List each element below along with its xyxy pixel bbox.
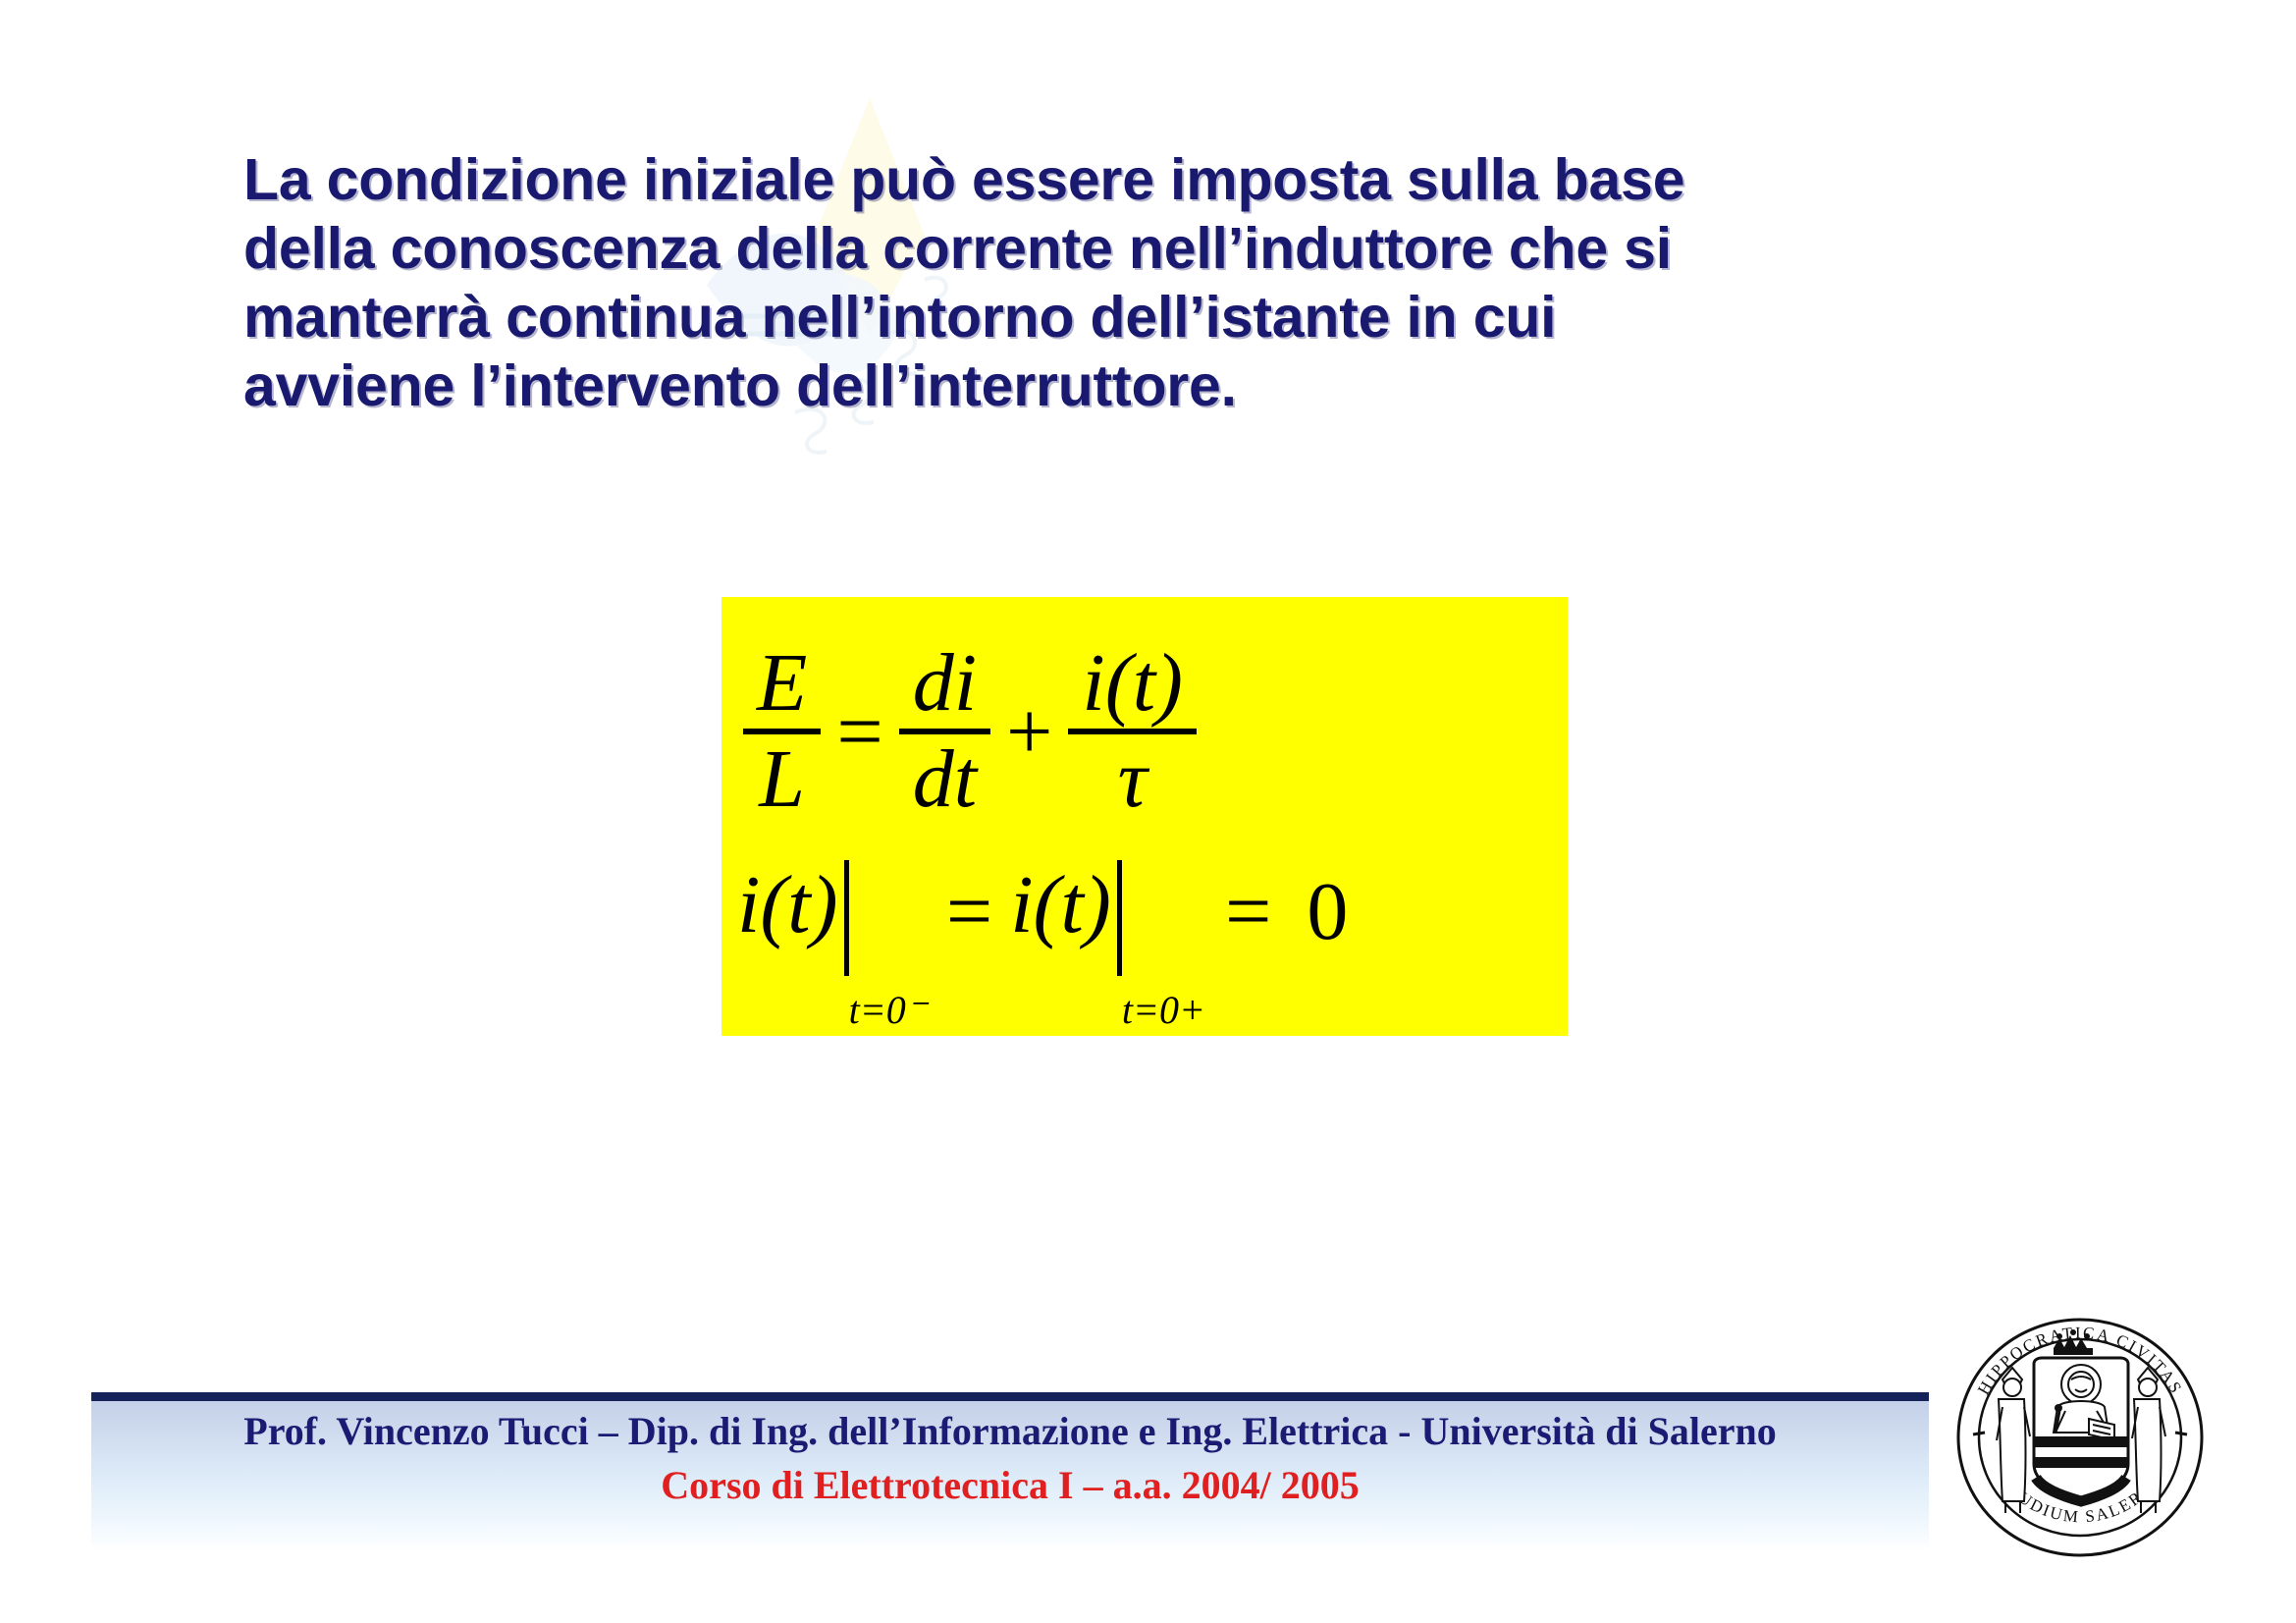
- fraction-denominator-dt: dt: [899, 734, 990, 825]
- subscript-t-equals-zero-plus: t=0+: [1122, 987, 1205, 1033]
- footer-divider: [91, 1392, 1929, 1401]
- fraction-E-over-L: E L: [743, 638, 821, 825]
- fraction-di-over-dt: di dt: [899, 638, 990, 825]
- equals-sign-2: =: [1207, 860, 1289, 959]
- subscript-t-equals-zero-minus: t=0⁻: [849, 987, 927, 1033]
- evaluation-bar-left: [844, 860, 849, 976]
- fraction-it-over-tau: i(t) τ: [1068, 638, 1197, 825]
- result-zero: 0: [1289, 860, 1365, 959]
- fraction-numerator-it: i(t): [1068, 638, 1197, 729]
- footer-course-line: Corso di Elettrotecnica I – a.a. 2004/ 2…: [91, 1462, 1929, 1508]
- footer-credit-line: Prof. Vincenzo Tucci – Dip. di Ing. dell…: [91, 1408, 1929, 1454]
- equation-differential: E L = di dt + i(t) τ: [743, 619, 1197, 844]
- plus-sign: +: [990, 684, 1068, 780]
- fraction-numerator-di: di: [899, 638, 990, 729]
- heading-line-4: avviene l’intervento dell’interruttore.: [243, 352, 1912, 420]
- evaluation-bar-right: [1117, 860, 1122, 976]
- university-seal-logo: HIPPOCRATICA CIVITAS STUDIUM SALERNI: [1951, 1309, 2209, 1562]
- equals-sign-1: =: [929, 860, 1010, 959]
- heading-line-3: manterrà continua nell’intorno dell’ista…: [243, 283, 1912, 352]
- heading-line-2: della conoscenza della corrente nell’ind…: [243, 214, 1912, 283]
- fraction-numerator-E: E: [743, 638, 821, 729]
- equals-sign: =: [821, 684, 898, 780]
- page-title: La condizione iniziale può essere impost…: [243, 145, 1912, 420]
- formula-highlight-box: E L = di dt + i(t) τ i(t) t=0⁻ = i(t) t=…: [721, 597, 1568, 1036]
- equation-initial-condition: i(t) t=0⁻ = i(t) t=0+ = 0: [737, 860, 1365, 1007]
- heading-line-1: La condizione iniziale può essere impost…: [243, 145, 1912, 214]
- function-it-right: i(t): [1010, 860, 1111, 947]
- function-it-left: i(t): [737, 860, 838, 947]
- fraction-denominator-L: L: [745, 734, 819, 825]
- fraction-denominator-tau: τ: [1104, 734, 1161, 825]
